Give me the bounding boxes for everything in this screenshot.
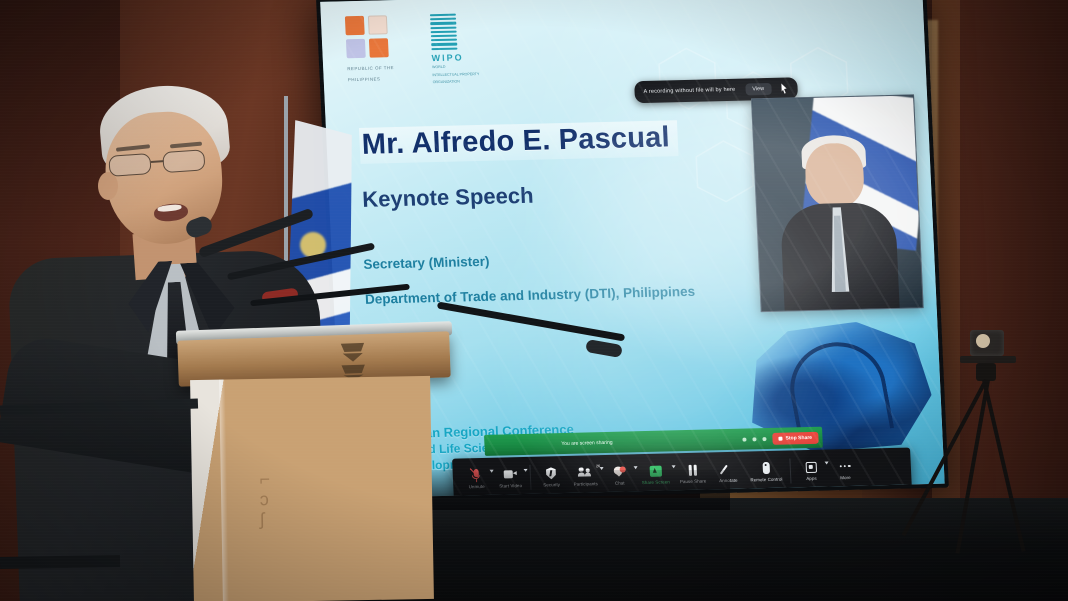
tripod-leg-1 [982, 380, 1025, 552]
toolbar-button-remote-control[interactable]: Remote Control [745, 461, 788, 483]
more-dots-icon [839, 459, 850, 473]
share-bar-dot-3 [763, 437, 767, 441]
chevron-up-icon[interactable] [825, 462, 829, 465]
podium-body [190, 376, 434, 601]
slide-logos: REPUBLIC OF THE PHILIPPINES WIPO WORLD I… [345, 13, 480, 88]
toast-message: A recording without file will by here [643, 87, 735, 95]
participants-count-badge: 26 [596, 464, 600, 468]
wipo-sub-line2: INTELLECTUAL PROPERTY [432, 72, 479, 79]
slide-title: Mr. Alfredo E. Pascual [359, 120, 679, 164]
remote-control-icon [762, 461, 770, 475]
pip-flag [800, 94, 924, 250]
share-bar-dot-2 [753, 437, 757, 441]
pip-tie [831, 216, 846, 292]
slide-subtitle: Keynote Speech [362, 183, 534, 213]
pip-hair [801, 135, 867, 170]
wipo-sub-line3: ORGANIZATION [433, 79, 480, 86]
zoom-notification-toast[interactable]: A recording without file will by here Vi… [634, 77, 798, 103]
life-science-arc-decor [782, 335, 894, 444]
life-science-graphic [748, 320, 934, 453]
pointer-cursor-icon [781, 83, 788, 94]
stop-share-button[interactable]: Stop Share [772, 432, 818, 445]
agency-logo: REPUBLIC OF THE PHILIPPINES [345, 15, 395, 83]
tripod-head [976, 363, 996, 381]
wipo-sub-line1: WORLD [432, 64, 479, 71]
podium-crest-icon [335, 339, 370, 380]
hexagon-pattern-decor [635, 28, 900, 292]
podium-marking: ⌐ɔʃ [259, 470, 290, 551]
wipo-logo: WIPO WORLD INTELLECTUAL PROPERTY ORGANIZ… [430, 13, 480, 86]
toolbar-label-apps: Apps [806, 476, 817, 481]
camera-on-tripod [952, 330, 1032, 560]
toolbar-button-apps[interactable]: Apps [794, 460, 829, 482]
share-status-text: You are screen sharing [561, 440, 613, 447]
toolbar-label-remote-control: Remote Control [750, 477, 782, 483]
wipo-bars-icon [430, 13, 458, 50]
toolbar-divider-2 [790, 459, 792, 483]
chevron-up-icon[interactable] [671, 465, 675, 468]
chevron-up-icon[interactable] [633, 466, 637, 469]
pip-face [804, 143, 865, 208]
tripod-plate [960, 356, 1016, 363]
apps-icon [805, 460, 817, 474]
toolbar-label-more: More [840, 475, 851, 480]
conference-photo-scene: REPUBLIC OF THE PHILIPPINES WIPO WORLD I… [0, 0, 1068, 601]
stop-share-label: Stop Share [785, 435, 812, 442]
slide-role-line2: Department of Trade and Industry (DTI), … [365, 284, 696, 307]
pip-shirt [823, 207, 854, 292]
agency-logo-caption-line2: PHILIPPINES [348, 76, 395, 84]
participant-video-thumbnail[interactable] [751, 94, 923, 311]
share-bar-dot-1 [743, 437, 747, 441]
pip-background [752, 95, 922, 310]
four-squares-logo-icon [345, 15, 393, 62]
slide-role-line1: Secretary (Minister) [363, 254, 490, 272]
toolbar-button-more[interactable]: More [828, 459, 863, 481]
video-camera-device [970, 330, 1004, 356]
agency-logo-caption-line1: REPUBLIC OF THE [347, 65, 394, 73]
screen-share-status-bar: You are screen sharing Stop Share [484, 427, 822, 456]
background-rail-lower [0, 555, 120, 569]
wipo-wordmark: WIPO [431, 52, 478, 63]
stop-share-icon [779, 436, 783, 440]
toast-view-button[interactable]: View [745, 83, 771, 96]
pip-suit [780, 202, 901, 312]
